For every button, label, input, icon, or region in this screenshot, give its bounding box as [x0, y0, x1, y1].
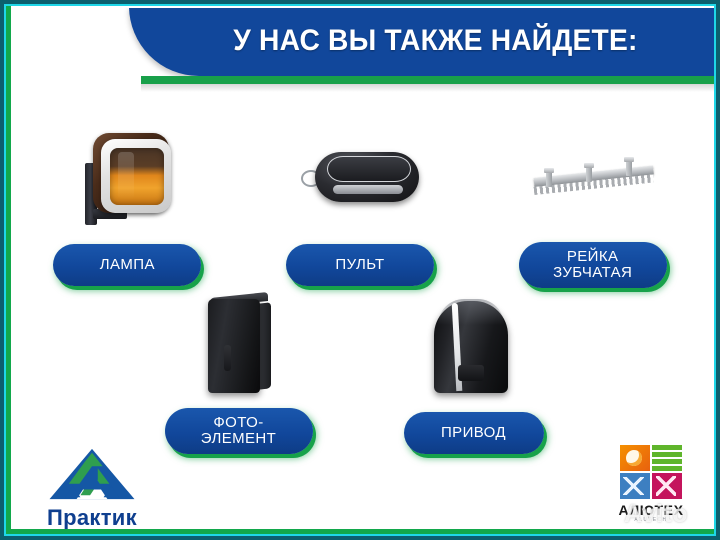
- gate-drive-icon: [428, 293, 520, 397]
- product-image-lamp: [79, 116, 175, 238]
- praktik-mountain-icon: [46, 447, 138, 503]
- gear-rack-icon: [528, 148, 658, 206]
- header-banner: У НАС ВЫ ТАКЖЕ НАЙДЕТЕ:: [129, 8, 714, 76]
- product-label-remote[interactable]: ПУЛЬТ: [286, 244, 434, 286]
- alutech-tile-green: [652, 445, 682, 471]
- product-label-gear-rack[interactable]: РЕЙКА ЗУБЧАТАЯ: [519, 242, 667, 288]
- photocell-icon: [200, 293, 278, 397]
- rack-stud: [626, 160, 632, 176]
- praktik-logo-text: Практик: [47, 505, 137, 531]
- product-image-remote: [301, 116, 419, 238]
- banner-dropshadow: [141, 84, 714, 92]
- praktik-logo[interactable]: Практик: [32, 447, 152, 531]
- page-title: У НАС ВЫ ТАКЖЕ НАЙДЕТЕ:: [215, 24, 638, 58]
- product-image-drive: [428, 286, 520, 404]
- product-card-drive[interactable]: ПРИВОД: [369, 286, 579, 454]
- product-image-photocell: [200, 286, 278, 404]
- drive-vent-slot: [458, 365, 484, 381]
- alutech-tile-orange: [620, 445, 650, 471]
- alutech-logo[interactable]: АЛЮТЕХ ALUTECH: [613, 445, 689, 527]
- rack-stud: [546, 171, 552, 187]
- alutech-logo-text: АЛЮТЕХ: [613, 502, 689, 518]
- signal-lamp-icon: [79, 129, 175, 225]
- lamp-amber-lens: [110, 148, 164, 205]
- photocell-lens: [224, 345, 231, 371]
- product-label-lamp[interactable]: ЛАМПА: [53, 244, 201, 286]
- product-card-gear-rack[interactable]: РЕЙКА ЗУБЧАТАЯ: [493, 116, 693, 288]
- header-green-underline: [141, 76, 714, 84]
- alutech-tile-blue: [620, 473, 650, 499]
- remote-control-icon: [301, 148, 419, 206]
- product-image-gear-rack: [528, 116, 658, 238]
- product-row-2: ФОТО- ЭЛЕМЕНТ ПРИВОД: [121, 286, 591, 454]
- remote-face-panel: [327, 156, 411, 182]
- product-card-remote[interactable]: ПУЛЬТ: [260, 116, 460, 288]
- product-card-photocell[interactable]: ФОТО- ЭЛЕМЕНТ: [134, 286, 344, 454]
- drive-top-highlight: [438, 299, 504, 325]
- slide-canvas: У НАС ВЫ ТАКЖЕ НАЙДЕТЕ: ЛАМПА: [0, 0, 720, 540]
- product-label-photocell[interactable]: ФОТО- ЭЛЕМЕНТ: [165, 408, 313, 454]
- product-label-drive[interactable]: ПРИВОД: [404, 412, 544, 454]
- photocell-body: [208, 299, 260, 393]
- product-row-1: ЛАМПА ПУЛЬТ: [11, 116, 709, 288]
- remote-button-strip: [333, 185, 403, 194]
- alutech-tiles: [620, 445, 682, 499]
- alutech-tile-magenta: [652, 473, 682, 499]
- rack-stud: [586, 166, 592, 182]
- product-card-lamp[interactable]: ЛАМПА: [27, 116, 227, 288]
